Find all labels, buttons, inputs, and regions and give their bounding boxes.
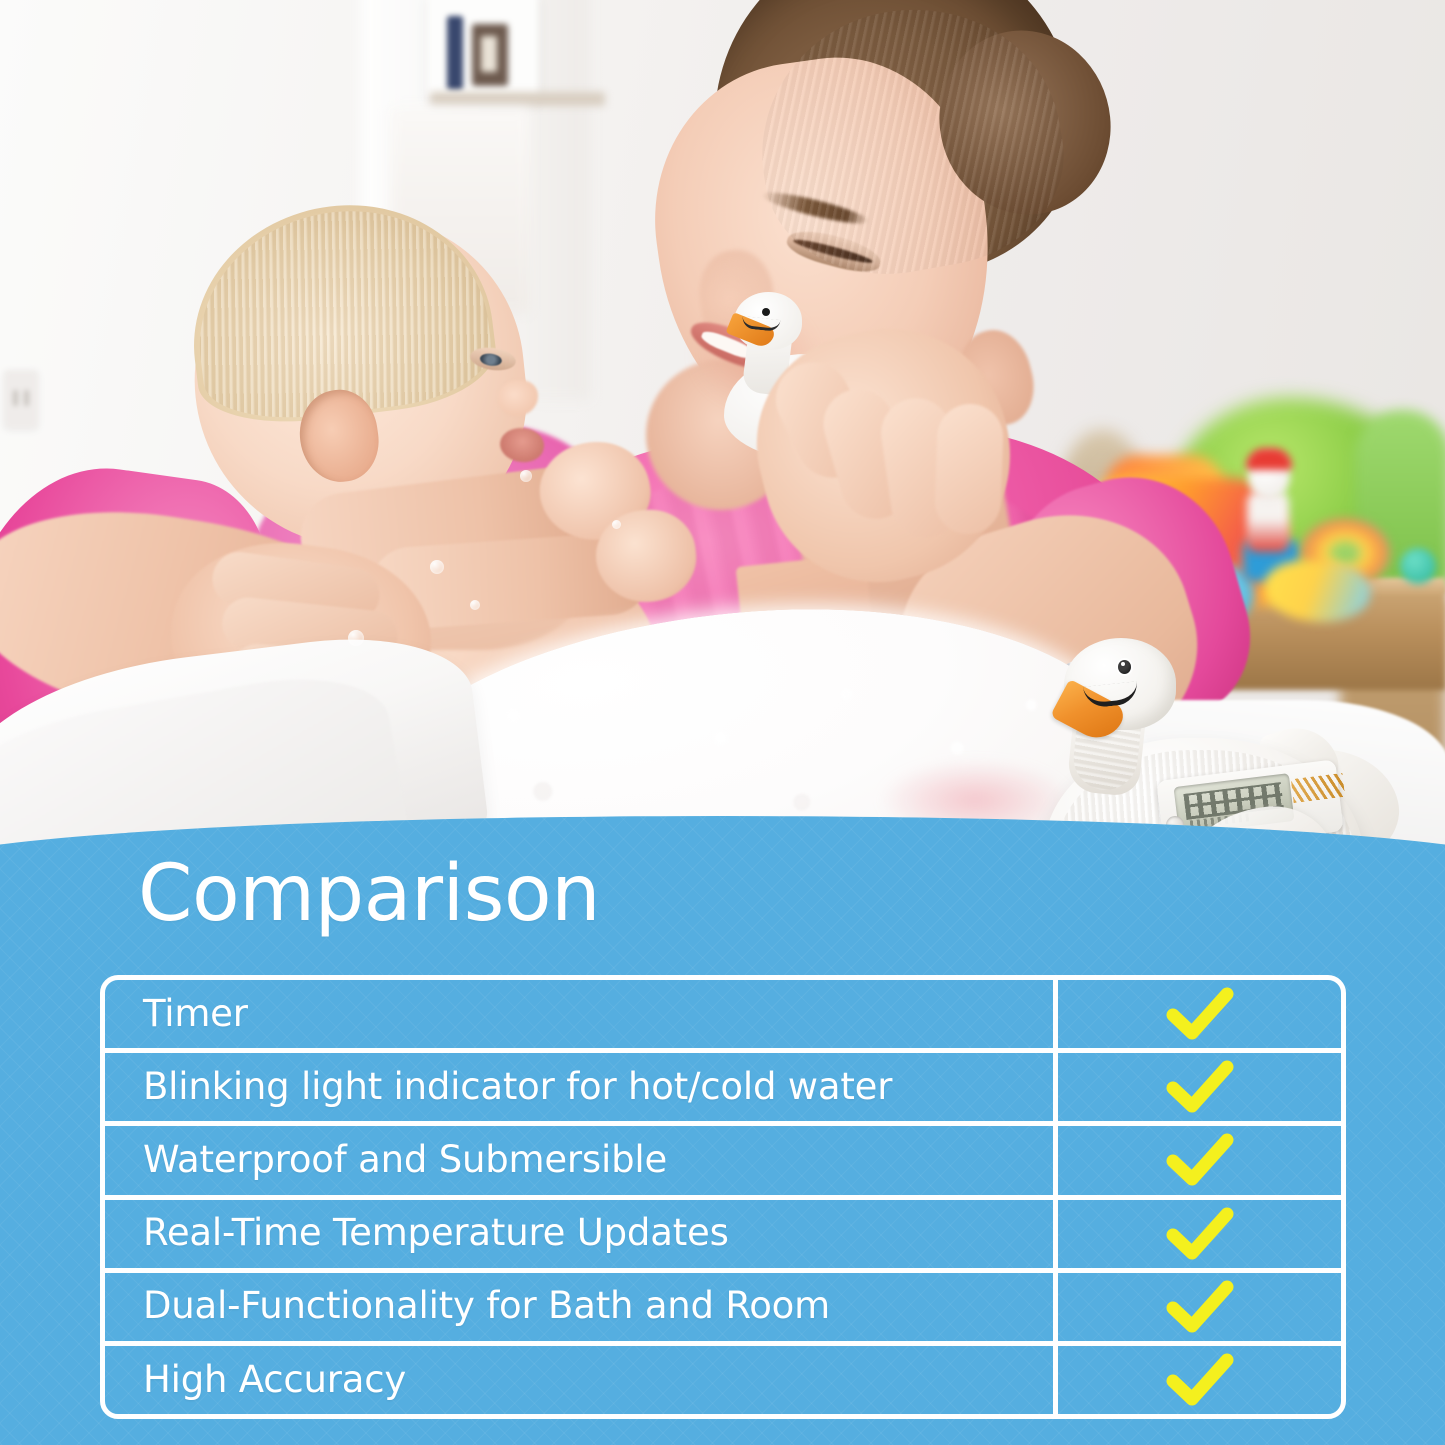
- feature-label: Waterproof and Submersible: [143, 1141, 667, 1180]
- feature-label: Timer: [143, 995, 248, 1034]
- table-row: Waterproof and Submersible: [105, 1126, 1341, 1199]
- bubble: [520, 470, 532, 482]
- page-title: Comparison: [138, 855, 600, 933]
- table-row: Blinking light indicator for hot/cold wa…: [105, 1053, 1341, 1126]
- feature-label: Real-Time Temperature Updates: [143, 1214, 729, 1253]
- swan-eye: [1118, 660, 1131, 674]
- feature-cell: Real-Time Temperature Updates: [105, 1200, 1058, 1268]
- table-row: High Accuracy: [105, 1346, 1341, 1414]
- mark-cell: [1058, 980, 1341, 1048]
- feature-cell: Blinking light indicator for hot/cold wa…: [105, 1053, 1058, 1121]
- feature-label: High Accuracy: [143, 1361, 406, 1400]
- check-icon: [1165, 985, 1235, 1043]
- swan-held-eye: [762, 308, 770, 316]
- comparison-table: Timer Blinking light indicator for hot/c…: [100, 975, 1346, 1419]
- feature-cell: Timer: [105, 980, 1058, 1048]
- feature-cell: Dual-Functionality for Bath and Room: [105, 1273, 1058, 1341]
- shelf-item-frame: [472, 24, 508, 86]
- wall-shelf-board: [430, 92, 605, 106]
- check-icon: [1165, 1278, 1235, 1336]
- mark-cell: [1058, 1053, 1341, 1121]
- check-icon: [1165, 1131, 1235, 1189]
- mark-cell: [1058, 1126, 1341, 1194]
- feature-cell: High Accuracy: [105, 1346, 1058, 1414]
- toy-figure-body: [1247, 492, 1289, 552]
- shelf-item-book: [447, 16, 463, 90]
- wall-outlet: [4, 370, 38, 428]
- table-row: Dual-Functionality for Bath and Room: [105, 1273, 1341, 1346]
- mark-cell: [1058, 1200, 1341, 1268]
- feature-label: Blinking light indicator for hot/cold wa…: [143, 1068, 892, 1107]
- bubble: [348, 630, 364, 646]
- table-row: Real-Time Temperature Updates: [105, 1200, 1341, 1273]
- mother-right-finger-4: [934, 403, 1004, 535]
- product-comparison-infographic: Comparison Timer Blinking light indicato…: [0, 0, 1445, 1445]
- toy-teal-ball: [1400, 548, 1436, 584]
- check-icon: [1165, 1058, 1235, 1116]
- table-row: Timer: [105, 980, 1341, 1053]
- feature-cell: Waterproof and Submersible: [105, 1126, 1058, 1194]
- bubble: [612, 520, 621, 529]
- mark-cell: [1058, 1273, 1341, 1341]
- bubble: [430, 560, 444, 574]
- check-icon: [1165, 1351, 1235, 1409]
- check-icon: [1165, 1205, 1235, 1263]
- feature-label: Dual-Functionality for Bath and Room: [143, 1287, 830, 1326]
- mark-cell: [1058, 1346, 1341, 1414]
- toy-figure-hat: [1246, 448, 1292, 470]
- bubble: [470, 600, 480, 610]
